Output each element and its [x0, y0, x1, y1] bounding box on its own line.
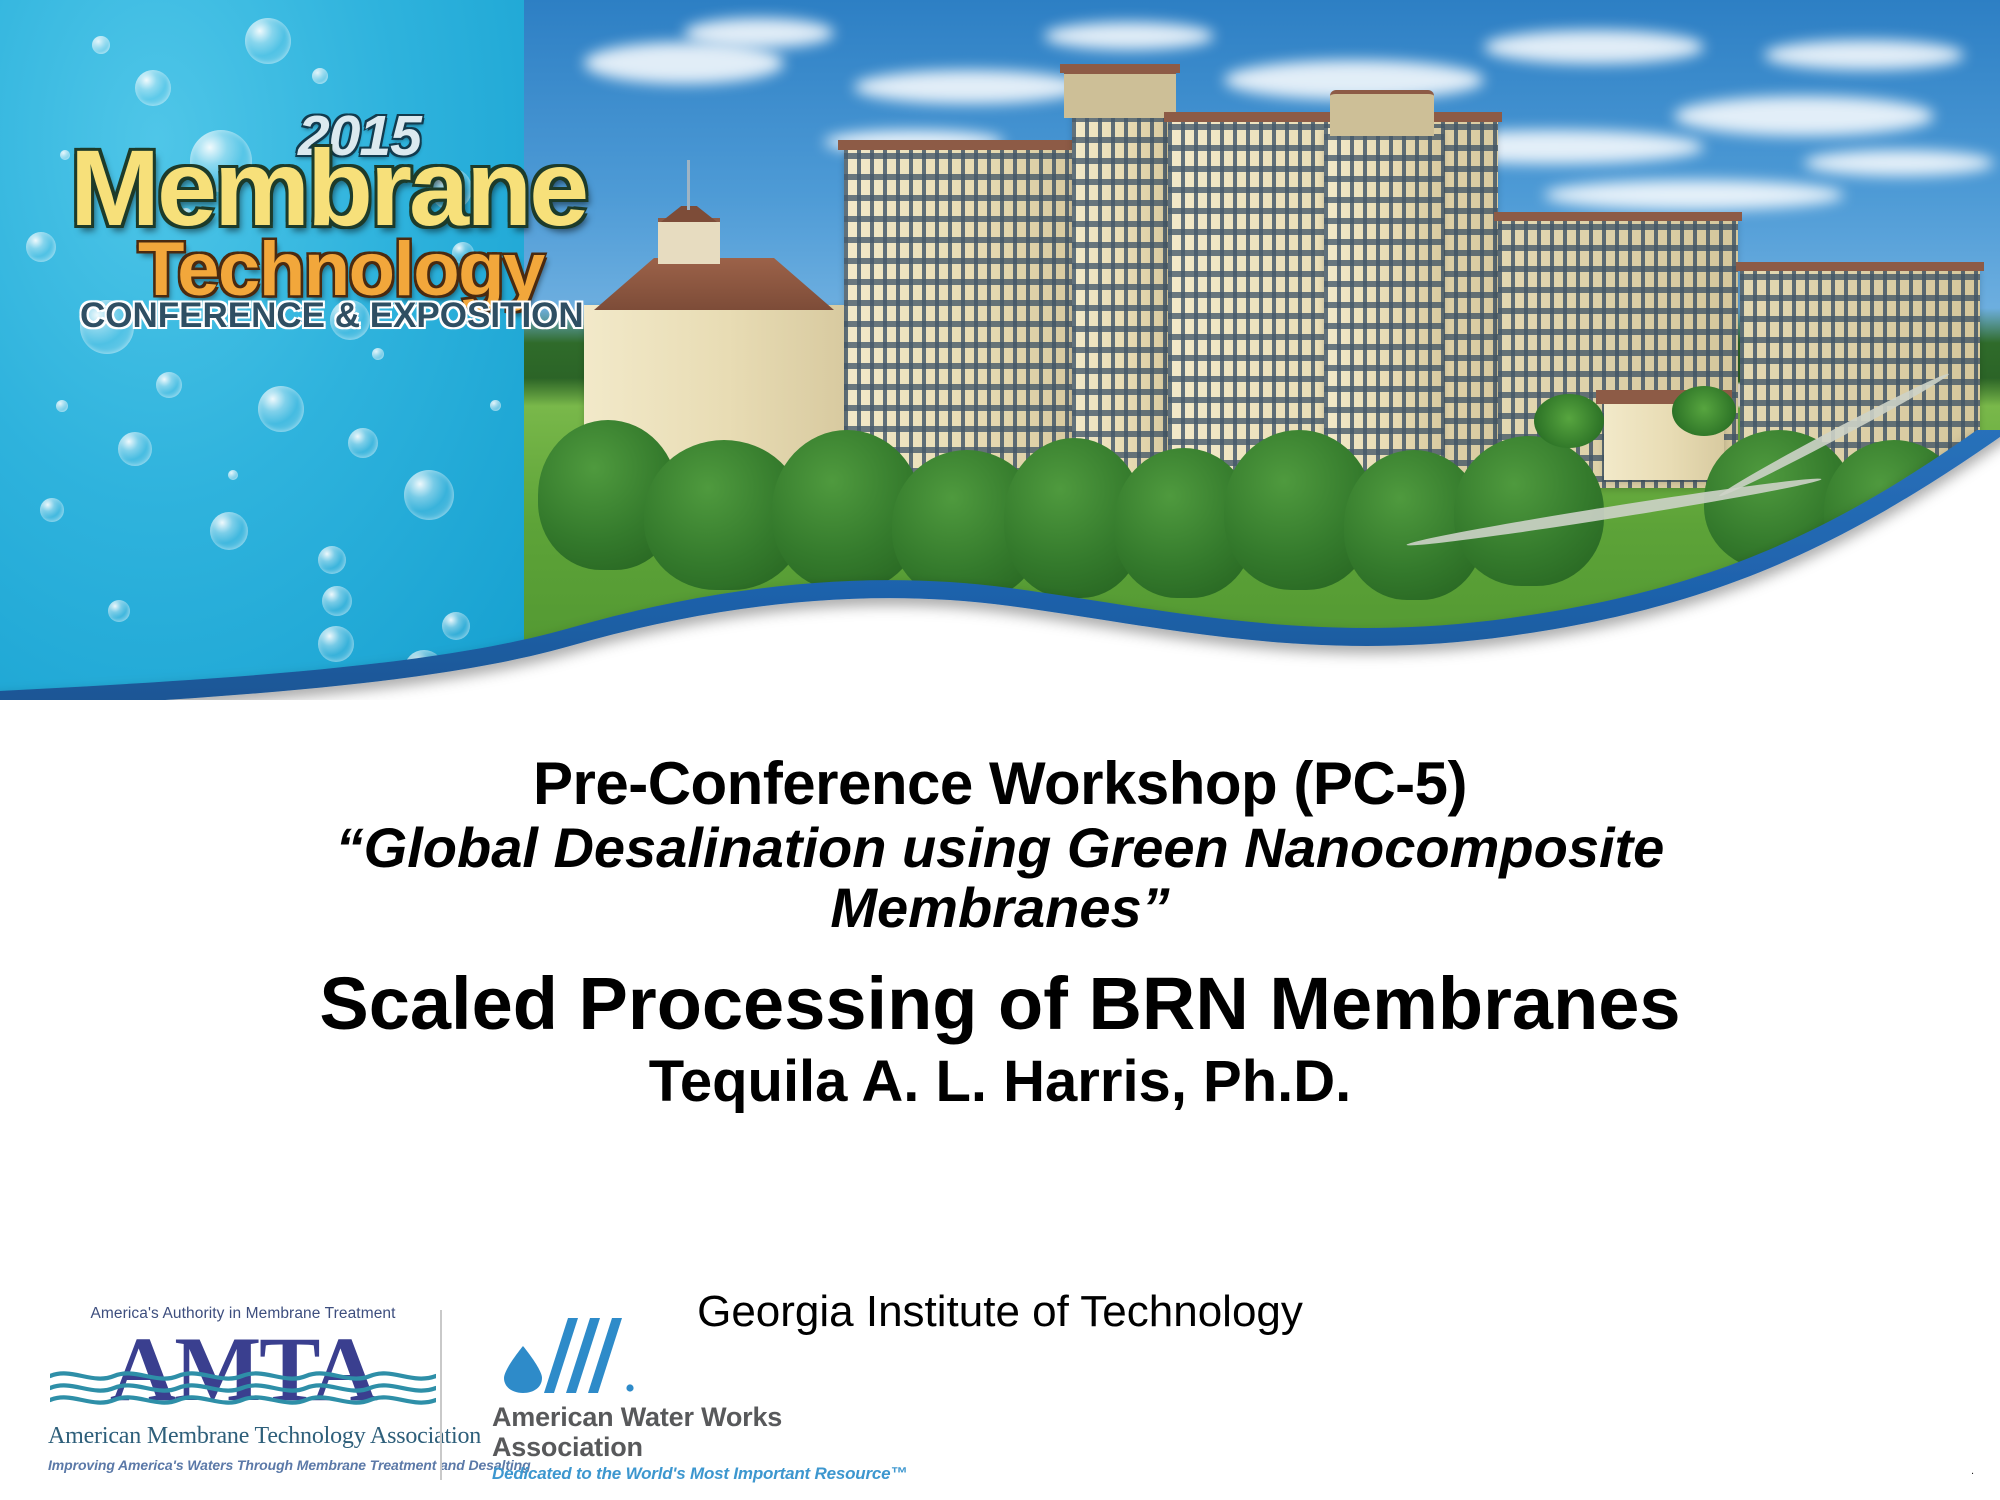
- logo-membrane: Membrane: [70, 134, 586, 242]
- presentation-title: Scaled Processing of BRN Membranes: [150, 963, 1850, 1044]
- amta-wordmark: AMTA: [48, 1323, 438, 1415]
- logo-divider: [440, 1310, 442, 1480]
- awwa-name-line1: American Water Works: [492, 1402, 782, 1432]
- quoted-title: “Global Desalination using Green Nanocom…: [290, 818, 1710, 939]
- footer-logos: America's Authority in Membrane Treatmen…: [0, 1300, 2000, 1500]
- header-banner: 2015 Membrane Technology CONFERENCE & EX…: [0, 0, 2000, 700]
- logo-conference-exposition: CONFERENCE & EXPOSITION: [80, 298, 584, 333]
- workshop-line: Pre-Conference Workshop (PC-5): [150, 752, 1850, 816]
- awwa-name-line2: Association: [492, 1432, 782, 1462]
- awwa-logo: American Water Works Association Dedicat…: [490, 1312, 920, 1492]
- awwa-name: American Water Works Association: [492, 1402, 782, 1462]
- membrane-technology-logo: 2015 Membrane Technology CONFERENCE & EX…: [70, 108, 490, 333]
- awwa-tagline: Dedicated to the World's Most Important …: [492, 1464, 907, 1484]
- presenter-name: Tequila A. L. Harris, Ph.D.: [150, 1050, 1850, 1115]
- amta-tagline-bottom: Improving America's Waters Through Membr…: [48, 1457, 438, 1473]
- title-block: Pre-Conference Workshop (PC-5) “Global D…: [150, 752, 1850, 1115]
- amta-logo: America's Authority in Membrane Treatmen…: [48, 1305, 438, 1490]
- resort-photo: [524, 0, 2000, 700]
- corner-mark: .: [1971, 1466, 1981, 1472]
- awwa-droplet-icon: [492, 1312, 642, 1394]
- banner-clip-region: 2015 Membrane Technology CONFERENCE & EX…: [0, 0, 2000, 700]
- slide-root: 2015 Membrane Technology CONFERENCE & EX…: [0, 0, 2000, 1500]
- water-bubbles-panel: 2015 Membrane Technology CONFERENCE & EX…: [0, 0, 524, 700]
- amta-full-name: American Membrane Technology Association: [48, 1423, 438, 1450]
